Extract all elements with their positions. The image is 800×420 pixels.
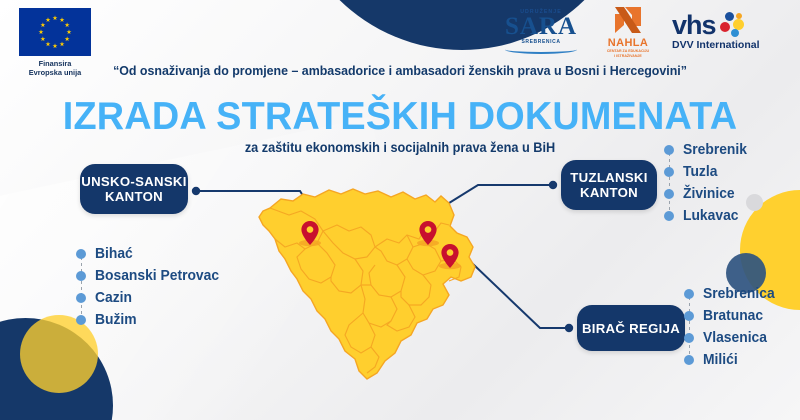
connector-dot-usk-box: [192, 187, 200, 195]
vhs-logo-row: vhs: [672, 12, 747, 38]
nahla-logo: NAHLA CENTAR ZA EDUKACIJU I ISTRAŽIVANJE: [597, 5, 659, 58]
city-name: Srebrenica: [703, 286, 775, 302]
bullet-icon: [684, 311, 694, 321]
city-name: Bužim: [95, 312, 137, 328]
bullet-icon: [684, 355, 694, 365]
nahla-sub-line2: I ISTRAŽIVANJE: [607, 54, 649, 59]
list-item: Živinice: [664, 183, 750, 205]
list-item: Milići: [684, 349, 778, 371]
vhs-dvv-logo: vhs DVV International: [672, 12, 790, 51]
region-label-unsko-sanski-kanton[interactable]: UNSKO-SANSKI KANTON: [80, 164, 188, 214]
connector-dot-tk-box: [549, 181, 557, 189]
city-name: Lukavac: [683, 208, 739, 224]
bullet-icon: [76, 271, 86, 281]
bosnia-herzegovina-map: [245, 185, 505, 380]
infographic-poster: Finansira Evropska unija UDRUŽENJE SARA …: [0, 0, 800, 420]
region-label-tuzlanski-kanton[interactable]: TUZLANSKI KANTON: [561, 160, 657, 210]
city-list-birac: Srebrenica Bratunac Vlasenica Milići: [684, 283, 778, 371]
list-item: Bužim: [76, 309, 226, 331]
city-name: Bratunac: [703, 308, 763, 324]
bullet-icon: [76, 315, 86, 325]
region-label-line1: BIRAČ REGIJA: [582, 321, 680, 336]
nahla-logo-sub: CENTAR ZA EDUKACIJU I ISTRAŽIVANJE: [607, 49, 649, 58]
sara-logo: UDRUŽENJE SARA SREBRENICA: [498, 9, 584, 54]
project-quote: “Od osnaživanja do promjene – ambasadori…: [24, 63, 776, 78]
city-list-unsko-sanski: Bihać Bosanski Petrovac Cazin Bužim: [76, 243, 226, 331]
list-item: Cazin: [76, 287, 226, 309]
nahla-logo-name: NAHLA: [608, 37, 649, 49]
city-name: Tuzla: [683, 164, 717, 180]
bullet-icon: [664, 211, 674, 221]
bullet-icon: [664, 145, 674, 155]
bullet-icon: [76, 293, 86, 303]
decorative-circle-navy-bottom-left: [0, 318, 113, 420]
region-label-line2: KANTON: [570, 185, 647, 200]
region-label-line1: TUZLANSKI: [570, 170, 647, 185]
nahla-n-mark-icon: [613, 5, 643, 35]
region-label-birac-regija[interactable]: BIRAČ REGIJA: [577, 305, 685, 351]
city-name: Živinice: [683, 186, 735, 202]
city-name: Bihać: [95, 246, 133, 262]
vhs-logo-sub: DVV International: [672, 39, 760, 51]
vhs-logo-word: vhs: [672, 12, 716, 38]
sara-logo-name: SARA: [505, 15, 577, 39]
bullet-icon: [684, 289, 694, 299]
list-item: Srebrenik: [664, 139, 750, 161]
bullet-icon: [684, 333, 694, 343]
bullet-icon: [76, 249, 86, 259]
eu-stars: [19, 8, 91, 56]
region-label-line1: UNSKO-SANSKI: [81, 174, 186, 189]
map-country-shape: [259, 189, 475, 379]
eu-flag-icon: [19, 8, 91, 56]
bullet-icon: [664, 167, 674, 177]
connector-dot-birac-box: [565, 324, 573, 332]
vhs-dots-icon: [719, 12, 747, 38]
city-name: Srebrenik: [683, 142, 747, 158]
list-item: Srebrenica: [684, 283, 778, 305]
list-item: Bihać: [76, 243, 226, 265]
list-item: Tuzla: [664, 161, 750, 183]
city-name: Milići: [703, 352, 738, 368]
list-item: Vlasenica: [684, 327, 778, 349]
sara-logo-swoosh: [505, 45, 577, 54]
bullet-icon: [664, 189, 674, 199]
city-list-tuzlanski: Srebrenik Tuzla Živinice Lukavac: [664, 139, 750, 227]
page-title: IZRADA STRATEŠKIH DOKUMENATA: [12, 96, 788, 138]
region-label-line2: KANTON: [81, 189, 186, 204]
partner-logos: UDRUŽENJE SARA SREBRENICA NAHLA CENTAR Z…: [498, 5, 790, 58]
list-item: Lukavac: [664, 205, 750, 227]
list-item: Bosanski Petrovac: [76, 265, 226, 287]
city-name: Bosanski Petrovac: [95, 268, 219, 284]
city-name: Cazin: [95, 290, 132, 306]
city-name: Vlasenica: [703, 330, 767, 346]
nahla-sub-line1: CENTAR ZA EDUKACIJU: [607, 49, 649, 54]
list-item: Bratunac: [684, 305, 778, 327]
